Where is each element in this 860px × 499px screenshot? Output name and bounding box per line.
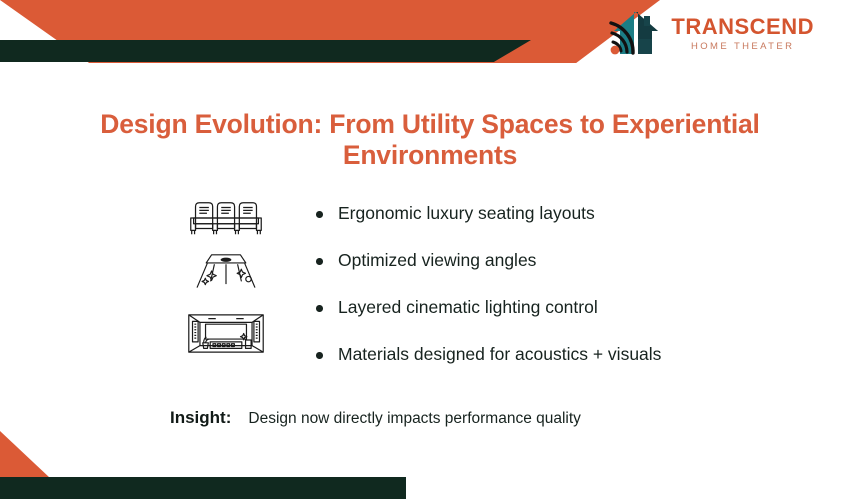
page-title: Design Evolution: From Utility Spaces to… xyxy=(80,109,780,172)
slide: TRANSCEND HOME THEATER Design Evolution:… xyxy=(0,0,860,499)
insight-label: Insight: xyxy=(170,408,231,428)
footer-orange-triangle xyxy=(0,431,50,478)
house-wifi-icon xyxy=(608,9,662,57)
bullet-text: Ergonomic luxury seating layouts xyxy=(338,203,595,223)
theater-seats-icon xyxy=(185,195,267,241)
bullet-text: Materials designed for acoustics + visua… xyxy=(338,344,661,364)
bullet-text: Optimized viewing angles xyxy=(338,250,536,270)
list-item: Materials designed for acoustics + visua… xyxy=(316,346,860,364)
list-item: Optimized viewing angles xyxy=(316,252,860,270)
content-area: Ergonomic luxury seating layouts Optimiz… xyxy=(0,186,860,386)
brand-tagline: HOME THEATER xyxy=(691,42,794,52)
icon-column xyxy=(0,186,290,386)
list-item: Ergonomic luxury seating layouts xyxy=(316,205,860,223)
header-green-band xyxy=(0,40,531,62)
ceiling-spotlight-icon xyxy=(185,248,267,294)
brand-name: TRANSCEND xyxy=(671,16,814,38)
insight-text: Design now directly impacts performance … xyxy=(248,410,581,428)
bullet-text: Layered cinematic lighting control xyxy=(338,297,598,317)
brand-wordmark: TRANSCEND HOME THEATER xyxy=(671,14,814,52)
brand-logo: TRANSCEND HOME THEATER xyxy=(608,9,814,57)
bullet-list: Ergonomic luxury seating layouts Optimiz… xyxy=(290,205,860,364)
home-theater-room-icon xyxy=(185,308,267,358)
footer-green-band xyxy=(0,477,406,499)
insight-row: Insight: Design now directly impacts per… xyxy=(170,408,581,428)
list-item: Layered cinematic lighting control xyxy=(316,299,860,317)
bullet-column: Ergonomic luxury seating layouts Optimiz… xyxy=(290,186,860,386)
